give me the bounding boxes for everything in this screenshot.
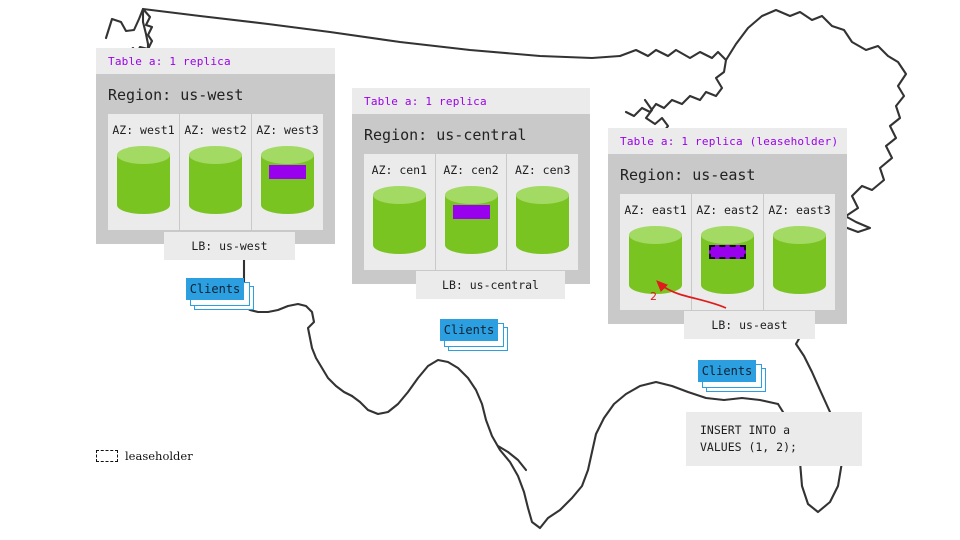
panel-header-us-west: Table a: 1 replica (96, 48, 335, 74)
load-balancer-us-central[interactable]: LB: us-central (416, 271, 565, 299)
clients-button-us-west[interactable]: Clients (186, 278, 252, 308)
cylinder-top (701, 226, 754, 244)
az-label-west2: AZ: west2 (184, 123, 246, 137)
node-cylinder-cen3[interactable] (516, 186, 569, 254)
az-cell-west2[interactable]: AZ: west2 (179, 114, 251, 230)
cylinder-top (189, 146, 242, 164)
az-label-east3: AZ: east3 (768, 203, 830, 217)
az-cell-cen1[interactable]: AZ: cen1 (364, 154, 435, 270)
replica-block-west3[interactable] (269, 165, 306, 179)
annotation-step-label: 2 (650, 290, 657, 303)
region-title-us-east: Region: us-east (620, 154, 835, 194)
region-panel-us-east: Table a: 1 replica (leaseholder) Region:… (608, 128, 847, 324)
replica-block-cen2[interactable] (453, 205, 490, 219)
clients-button-face[interactable]: Clients (698, 360, 756, 382)
node-cylinder-cen2[interactable] (445, 186, 498, 254)
cylinder-top (261, 146, 314, 164)
node-cylinder-west2[interactable] (189, 146, 242, 214)
dashed-rect-icon (96, 450, 118, 462)
az-cell-cen3[interactable]: AZ: cen3 (506, 154, 578, 270)
cylinder-top (117, 146, 170, 164)
clients-button-us-east[interactable]: Clients (698, 360, 764, 390)
az-cell-west3[interactable]: AZ: west3 (251, 114, 323, 230)
az-cell-east3[interactable]: AZ: east3 (763, 194, 835, 310)
az-label-east2: AZ: east2 (696, 203, 758, 217)
cylinder-top (516, 186, 569, 204)
az-label-east1: AZ: east1 (624, 203, 686, 217)
az-row-us-west: AZ: west1 AZ: west2 AZ (108, 114, 323, 230)
panel-body-us-central: Region: us-central AZ: cen1 AZ: cen2 (352, 114, 590, 284)
node-cylinder-west1[interactable] (117, 146, 170, 214)
node-cylinder-cen1[interactable] (373, 186, 426, 254)
clients-button-face[interactable]: Clients (440, 319, 498, 341)
az-label-west1: AZ: west1 (112, 123, 174, 137)
panel-body-us-east: Region: us-east AZ: east1 AZ: east2 (608, 154, 847, 324)
replica-block-east2-leaseholder[interactable] (709, 245, 746, 259)
node-cylinder-east3[interactable] (773, 226, 826, 294)
az-label-cen1: AZ: cen1 (372, 163, 427, 177)
cylinder-top (373, 186, 426, 204)
panel-body-us-west: Region: us-west AZ: west1 AZ: west2 (96, 74, 335, 244)
cylinder-top (445, 186, 498, 204)
cylinder-top (773, 226, 826, 244)
az-cell-west1[interactable]: AZ: west1 (108, 114, 179, 230)
region-panel-us-west: Table a: 1 replica Region: us-west AZ: w… (96, 48, 335, 244)
az-cell-east2[interactable]: AZ: east2 (691, 194, 763, 310)
node-cylinder-east1[interactable] (629, 226, 682, 294)
region-title-us-central: Region: us-central (364, 114, 578, 154)
legend-label: leaseholder (125, 449, 193, 463)
load-balancer-us-east[interactable]: LB: us-east (684, 311, 815, 339)
panel-header-us-east: Table a: 1 replica (leaseholder) (608, 128, 847, 154)
panel-header-us-central: Table a: 1 replica (352, 88, 590, 114)
az-label-west3: AZ: west3 (256, 123, 318, 137)
diagram-canvas: Table a: 1 replica Region: us-west AZ: w… (0, 0, 960, 540)
clients-button-face[interactable]: Clients (186, 278, 244, 300)
region-title-us-west: Region: us-west (108, 74, 323, 114)
load-balancer-us-west[interactable]: LB: us-west (164, 232, 295, 260)
node-cylinder-east2[interactable] (701, 226, 754, 294)
node-cylinder-west3[interactable] (261, 146, 314, 214)
az-cell-cen2[interactable]: AZ: cen2 (435, 154, 507, 270)
az-label-cen2: AZ: cen2 (443, 163, 498, 177)
cylinder-top (629, 226, 682, 244)
legend: leaseholder (96, 449, 193, 463)
az-row-us-central: AZ: cen1 AZ: cen2 (364, 154, 578, 270)
az-label-cen3: AZ: cen3 (515, 163, 570, 177)
region-panel-us-central: Table a: 1 replica Region: us-central AZ… (352, 88, 590, 284)
clients-button-us-central[interactable]: Clients (440, 319, 506, 349)
sql-statement-box: INSERT INTO a VALUES (1, 2); (686, 412, 862, 466)
